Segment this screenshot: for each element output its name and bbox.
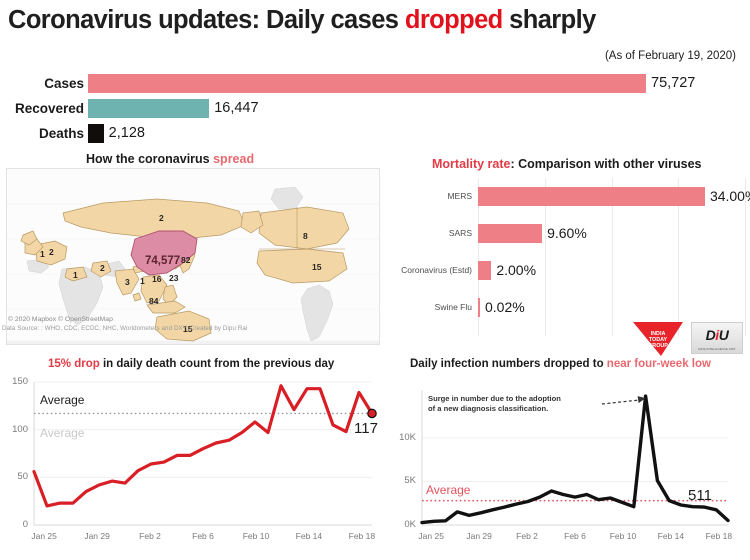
as-of-date: (As of February 19, 2020) <box>605 50 736 62</box>
y-axis-tick: 100 <box>0 424 28 435</box>
y-axis-tick: 5K <box>390 475 416 486</box>
summary-bar <box>88 74 646 93</box>
summary-row: Cases75,727 <box>0 72 750 96</box>
x-axis-tick: Feb 14 <box>281 531 337 541</box>
deaths-end-value: 117 <box>354 420 378 437</box>
map-title-accent: spread <box>213 152 254 166</box>
map-label-uae: 2 <box>100 263 105 273</box>
map-label-japan: 82 <box>181 255 190 265</box>
summary-bar-track: 2,128 <box>88 122 746 146</box>
mortality-row-label: Coronavirus (Estd) <box>400 252 472 289</box>
x-axis-tick: Jan 29 <box>69 531 125 541</box>
map-label-usa: 15 <box>312 262 321 272</box>
x-axis-tick: Feb 18 <box>691 531 747 541</box>
mortality-title: Mortality rate: Comparison with other vi… <box>432 157 702 171</box>
svg-text:GROUP: GROUP <box>648 343 668 349</box>
mortality-row-label: MERS <box>400 178 472 215</box>
y-axis-tick: 50 <box>0 471 28 482</box>
map-label-france: 1 <box>40 249 45 259</box>
y-axis-tick: 150 <box>0 376 28 387</box>
mortality-row-label: SARS <box>400 215 472 252</box>
headline-part1: Coronavirus updates: Daily cases <box>8 6 405 34</box>
summary-value: 16,447 <box>214 97 258 120</box>
x-axis-tick: Feb 2 <box>122 531 178 541</box>
summary-bar-chart: Cases75,727Recovered16,447Deaths2,128 <box>0 72 750 144</box>
mortality-value: 0.02% <box>485 289 525 326</box>
x-axis-tick: Feb 10 <box>228 531 284 541</box>
map-label-canada: 8 <box>303 231 308 241</box>
logo-group: INDIA TODAY GROUP DiU DATA INTELLIGENCE … <box>631 318 743 358</box>
summary-bar-track: 16,447 <box>88 97 746 121</box>
mortality-row: Coronavirus (Estd)2.00% <box>400 252 745 289</box>
map-title-part1: How the coronavirus <box>86 152 213 166</box>
summary-row: Recovered16,447 <box>0 97 750 121</box>
mortality-value: 34.00% <box>710 178 750 215</box>
page-title: Coronavirus updates: Daily cases dropped… <box>8 6 742 35</box>
map-label-philippines: 84 <box>149 296 158 306</box>
summary-row: Deaths2,128 <box>0 122 750 146</box>
surge-annotation: Surge in number due to the adoptionof a … <box>428 394 561 415</box>
y-axis-tick: 10K <box>390 432 416 443</box>
deaths-title-rest: in daily death count from the previous d… <box>100 358 335 370</box>
surge-annotation-line2: of a new diagnosis classification. <box>428 404 561 414</box>
summary-row-label: Recovered <box>0 97 84 121</box>
mortality-row: SARS9.60% <box>400 215 745 252</box>
mortality-row: MERS34.00% <box>400 178 745 215</box>
mortality-bar-chart: MERS34.00%SARS9.60%Coronavirus (Estd)2.0… <box>400 178 745 336</box>
diu-logo-subtext: DATA INTELLIGENCE UNIT <box>692 347 742 351</box>
mortality-title-accent: Mortality rate <box>432 157 511 171</box>
india-today-group-logo: INDIA TODAY GROUP <box>631 320 685 358</box>
map-label-china: 74,577 <box>145 255 180 267</box>
mortality-title-rest: : Comparison with other viruses <box>511 157 702 171</box>
infections-end-value: 511 <box>688 487 712 504</box>
average-label: Average <box>40 393 84 407</box>
map-title: How the coronavirus spread <box>86 152 254 166</box>
infections-chart-title: Daily infection numbers dropped to near … <box>410 358 711 370</box>
summary-bar-track: 75,727 <box>88 72 746 96</box>
end-point-marker <box>368 409 376 417</box>
x-axis-tick: Jan 25 <box>16 531 72 541</box>
daily-deaths-line-chart: 050100150Jan 25Jan 29Feb 2Feb 6Feb 10Feb… <box>0 372 390 555</box>
x-axis-tick: Feb 6 <box>175 531 231 541</box>
mortality-bar <box>478 224 542 243</box>
mortality-bar <box>478 261 491 280</box>
summary-value: 2,128 <box>109 122 145 145</box>
map-label-india: 3 <box>125 277 130 287</box>
daily-infections-line-chart: 0K5K10KJan 25Jan 29Feb 2Feb 6Feb 10Feb 1… <box>390 372 750 555</box>
mortality-bar <box>478 187 705 206</box>
map-label-vietnam: 1 <box>140 276 145 286</box>
data-line <box>422 396 728 522</box>
map-attribution: © 2020 Mapbox © OpenStreetMap <box>8 316 113 323</box>
mortality-bar-track: 2.00% <box>478 252 745 289</box>
mortality-value: 2.00% <box>496 252 536 289</box>
data-source-note: Data Source: : WHO, CDC, ECDC, NHC, Worl… <box>2 325 247 332</box>
mortality-bar-track: 34.00% <box>478 178 745 215</box>
surge-annotation-line1: Surge in number due to the adoption <box>428 394 561 404</box>
diu-logo: DiU DATA INTELLIGENCE UNIT <box>691 322 743 354</box>
summary-value: 75,727 <box>651 72 695 95</box>
mortality-value: 9.60% <box>547 215 587 252</box>
diu-logo-text: DiU <box>692 327 742 343</box>
average-label-secondary: Average <box>40 426 84 440</box>
x-axis-tick: Feb 18 <box>334 531 390 541</box>
y-axis-tick: 0K <box>390 519 416 530</box>
data-line <box>34 386 372 506</box>
y-axis-tick: 0 <box>0 519 28 530</box>
deaths-chart-title: 15% drop in daily death count from the p… <box>48 358 334 370</box>
map-label-thailand: 16 <box>152 274 161 284</box>
map-label-egypt: 1 <box>73 270 78 280</box>
deaths-title-accent: 15% drop <box>48 358 100 370</box>
infections-title-accent: near four-week low <box>607 358 711 370</box>
summary-bar <box>88 124 104 143</box>
mortality-bar <box>478 298 480 317</box>
map-label-russia: 2 <box>159 213 164 223</box>
mortality-bar-track: 9.60% <box>478 215 745 252</box>
annotation-arrow <box>602 400 639 404</box>
map-label-south-korea: 23 <box>169 273 178 283</box>
summary-row-label: Cases <box>0 72 84 96</box>
headline-part2: sharply <box>503 6 596 34</box>
summary-row-label: Deaths <box>0 122 84 146</box>
summary-bar <box>88 99 209 118</box>
mortality-row-label: Swine Flu <box>400 289 472 326</box>
headline-highlight: dropped <box>405 6 503 34</box>
average-label: Average <box>426 483 470 497</box>
infections-title-part1: Daily infection numbers dropped to <box>410 358 607 370</box>
map-label-germany: 2 <box>49 247 54 257</box>
